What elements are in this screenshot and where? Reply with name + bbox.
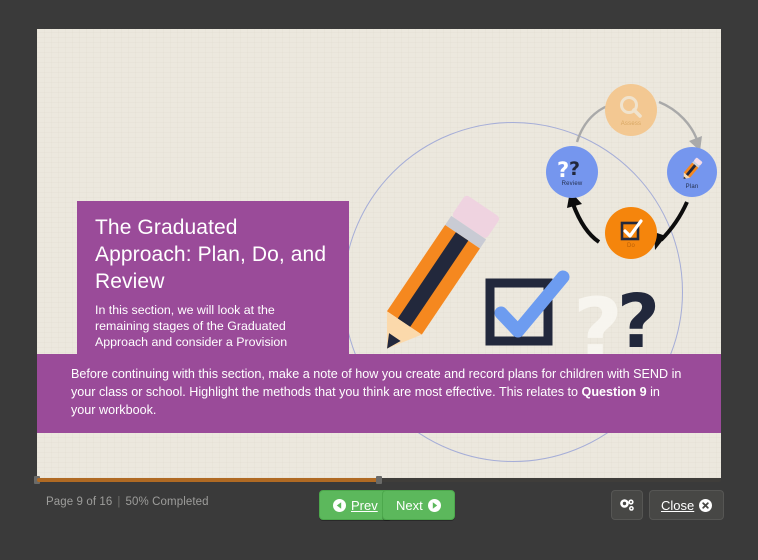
- circle-arrow-left-icon: [333, 499, 346, 512]
- next-button[interactable]: Next: [382, 490, 455, 520]
- cycle-node-assess: Assess: [605, 84, 657, 136]
- progress-knob-handle[interactable]: [376, 476, 382, 484]
- cycle-node-label: Review: [562, 181, 583, 187]
- graduated-approach-cycle-diagram: Assess Plan: [537, 84, 721, 279]
- status-separator: |: [112, 496, 125, 508]
- magnifier-icon: [618, 94, 644, 120]
- gears-icon: [619, 498, 636, 513]
- completion-status: 50% Completed: [126, 496, 209, 508]
- checkbox-icon: [619, 218, 643, 242]
- cycle-node-plan: Plan: [667, 147, 717, 197]
- prev-button[interactable]: Prev: [319, 490, 392, 520]
- cycle-node-label: Do: [627, 243, 635, 249]
- prev-button-label: Prev: [351, 498, 378, 513]
- page-status: Page 9 of 16: [46, 496, 112, 508]
- cycle-node-label: Plan: [686, 184, 699, 190]
- svg-text:?: ?: [569, 158, 580, 180]
- slide-callout-banner: Before continuing with this section, mak…: [37, 354, 721, 433]
- close-button-label: Close: [661, 498, 694, 513]
- next-button-label: Next: [396, 498, 423, 513]
- cycle-node-review: ? ? Review: [546, 146, 598, 198]
- cycle-node-label: Assess: [621, 121, 642, 127]
- question-mark-dark-decoration: ?: [617, 285, 660, 359]
- progress-fill: [37, 478, 379, 482]
- slide-stage: ? ?: [37, 29, 721, 478]
- pencil-icon: [678, 155, 706, 183]
- circle-arrow-right-icon: [428, 499, 441, 512]
- large-pencil-icon: [369, 189, 499, 369]
- settings-button[interactable]: [611, 490, 643, 520]
- elearning-player: ? ?: [0, 0, 758, 560]
- question-marks-icon: ? ?: [557, 158, 587, 180]
- callout-text: Before continuing with this section, mak…: [71, 366, 687, 420]
- cycle-node-do: Do: [605, 207, 657, 259]
- svg-text:?: ?: [557, 158, 569, 180]
- progress-scrubber[interactable]: [37, 478, 721, 482]
- circle-x-icon: [699, 499, 712, 512]
- callout-emphasis: Question 9: [582, 385, 647, 399]
- page-title: The Graduated Approach: Plan, Do, and Re…: [95, 215, 331, 296]
- close-button[interactable]: Close: [649, 490, 724, 520]
- playback-status: Page 9 of 16|50% Completed: [46, 496, 209, 508]
